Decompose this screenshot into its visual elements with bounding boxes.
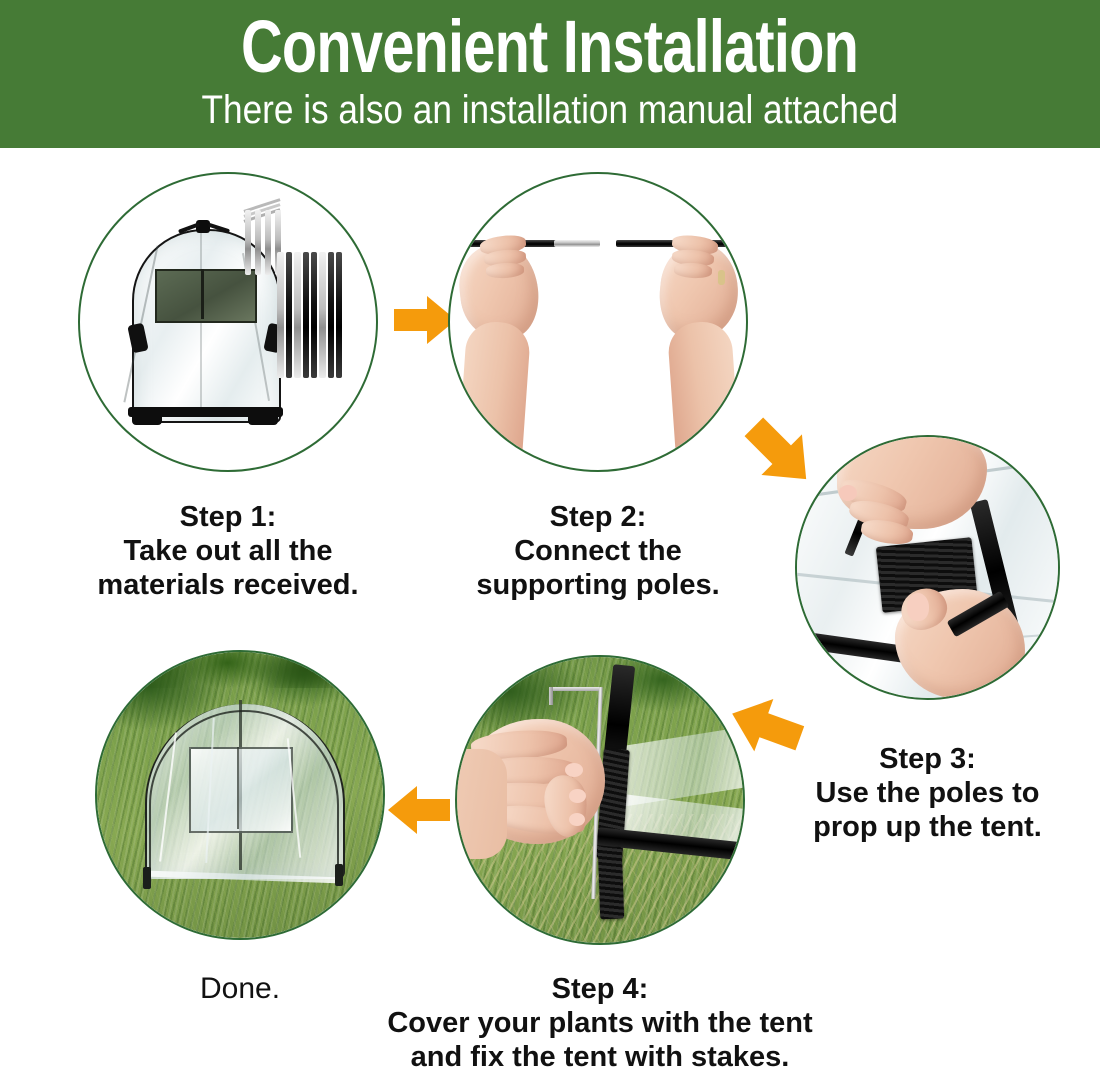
step-4-caption: Step 4: Cover your plants with the tent …: [330, 972, 870, 1074]
page-subtitle: There is also an installation manual att…: [202, 88, 899, 132]
header-banner: Convenient Installation There is also an…: [0, 0, 1100, 148]
step-2-image: [448, 172, 748, 472]
done-image: [95, 650, 385, 940]
step-2-caption: Step 2: Connect the supporting poles.: [448, 500, 748, 602]
done-caption: Done.: [95, 972, 385, 1006]
step-3-illustration: [797, 437, 1058, 698]
step-4-image: [455, 655, 745, 945]
step-1-illustration: [80, 174, 376, 470]
step-1-caption: Step 1: Take out all the materials recei…: [78, 500, 378, 602]
step-3-caption: Step 3: Use the poles to prop up the ten…: [760, 742, 1095, 844]
done-illustration: [97, 652, 383, 938]
page-title: Convenient Installation: [241, 8, 858, 86]
step-1-image: [78, 172, 378, 472]
step-3-image: [795, 435, 1060, 700]
step-4-illustration: [457, 657, 743, 943]
step-2-illustration: [450, 174, 746, 470]
